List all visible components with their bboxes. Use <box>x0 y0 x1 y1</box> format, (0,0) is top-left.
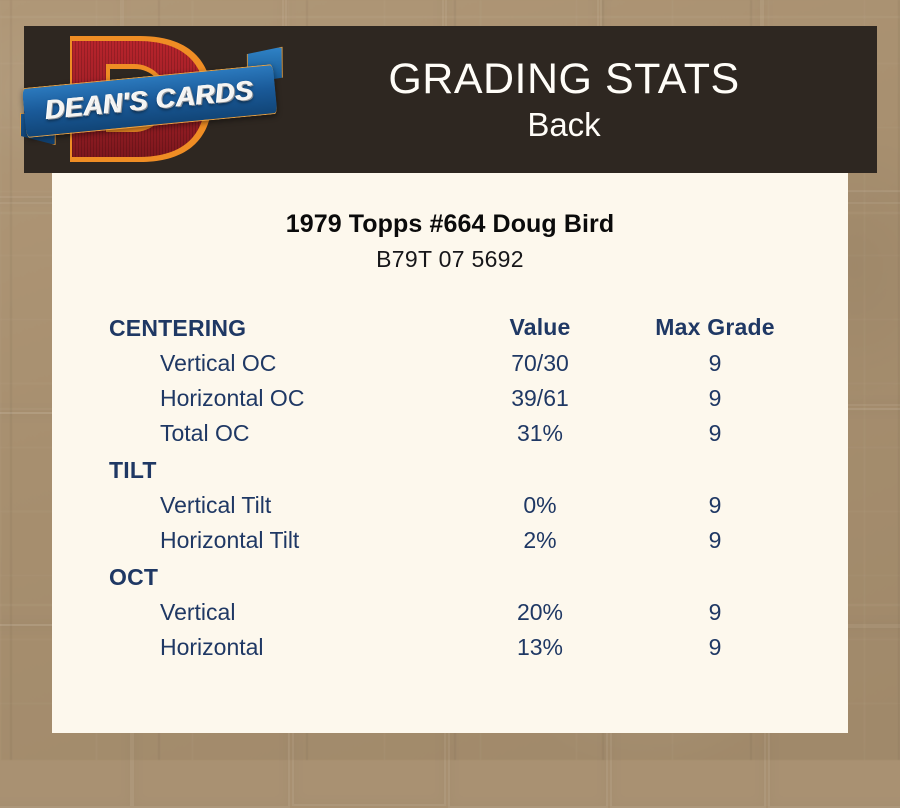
table-row: Horizontal 13% 9 <box>105 630 795 665</box>
table-row: Total OC 31% 9 <box>105 416 795 451</box>
card-title: 1979 Topps #664 Doug Bird <box>52 210 848 239</box>
column-header-max-grade: Max Grade <box>635 309 795 346</box>
card-serial-number: B79T 07 5692 <box>52 246 848 273</box>
spacer-cell <box>635 451 795 488</box>
row-value: 31% <box>445 416 635 451</box>
row-label: Horizontal Tilt <box>105 523 445 558</box>
site-header: DEAN'S CARDS GRADING STATS Back <box>24 26 877 173</box>
table-row: Horizontal OC 39/61 9 <box>105 381 795 416</box>
section-label-tilt: TILT <box>105 451 445 488</box>
row-value: 70/30 <box>445 346 635 381</box>
grading-stats-table: CENTERING Value Max Grade Vertical OC 70… <box>105 309 795 665</box>
row-max-grade: 9 <box>635 381 795 416</box>
table-row: Vertical 20% 9 <box>105 595 795 630</box>
section-header-row-tilt: TILT <box>105 451 795 488</box>
row-max-grade: 9 <box>635 416 795 451</box>
section-header-row-centering: CENTERING Value Max Grade <box>105 309 795 346</box>
spacer-cell <box>445 451 635 488</box>
row-max-grade: 9 <box>635 488 795 523</box>
row-label: Horizontal <box>105 630 445 665</box>
table-row: Horizontal Tilt 2% 9 <box>105 523 795 558</box>
row-max-grade: 9 <box>635 630 795 665</box>
spacer-cell <box>635 558 795 595</box>
logo-ribbon-icon: DEAN'S CARDS <box>22 64 278 144</box>
row-value: 39/61 <box>445 381 635 416</box>
deans-cards-logo[interactable]: DEAN'S CARDS <box>24 26 279 173</box>
row-value: 0% <box>445 488 635 523</box>
row-value: 2% <box>445 523 635 558</box>
row-label: Total OC <box>105 416 445 451</box>
row-label: Vertical OC <box>105 346 445 381</box>
row-max-grade: 9 <box>635 595 795 630</box>
column-header-value: Value <box>445 309 635 346</box>
section-label-centering: CENTERING <box>105 309 445 346</box>
content-panel: 1979 Topps #664 Doug Bird B79T 07 5692 C… <box>52 173 848 733</box>
table-row: Vertical OC 70/30 9 <box>105 346 795 381</box>
section-label-oct: OCT <box>105 558 445 595</box>
row-max-grade: 9 <box>635 346 795 381</box>
page-subtitle: Back <box>279 104 849 146</box>
row-max-grade: 9 <box>635 523 795 558</box>
row-value: 13% <box>445 630 635 665</box>
header-title-group: GRADING STATS Back <box>279 54 877 146</box>
spacer-cell <box>445 558 635 595</box>
row-label: Vertical Tilt <box>105 488 445 523</box>
page-title: GRADING STATS <box>279 54 849 104</box>
page-root: DEAN'S CARDS GRADING STATS Back 1979 Top… <box>0 0 900 760</box>
section-header-row-oct: OCT <box>105 558 795 595</box>
table-row: Vertical Tilt 0% 9 <box>105 488 795 523</box>
row-value: 20% <box>445 595 635 630</box>
row-label: Horizontal OC <box>105 381 445 416</box>
row-label: Vertical <box>105 595 445 630</box>
